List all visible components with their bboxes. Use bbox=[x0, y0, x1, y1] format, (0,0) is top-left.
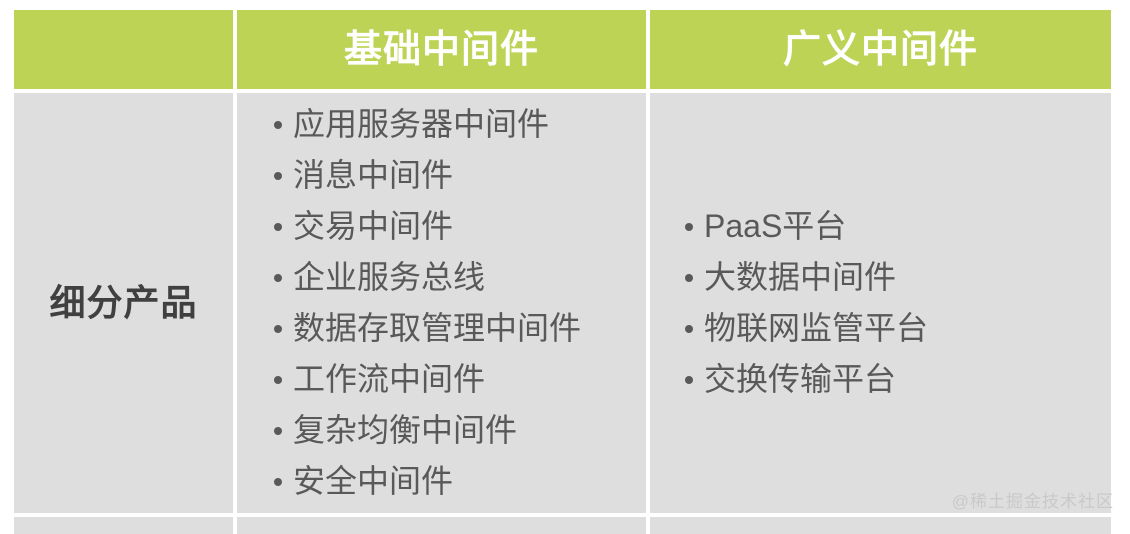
basic-middleware-list: 应用服务器中间件 消息中间件 交易中间件 企业服务总线 数据存取管理中间件 工作… bbox=[237, 99, 646, 507]
list-item: 交易中间件 bbox=[267, 201, 646, 252]
watermark: @稀土掘金技术社区 bbox=[952, 487, 1114, 512]
table-body-row: 细分产品 应用服务器中间件 消息中间件 交易中间件 企业服务总线 数据存取管理中… bbox=[14, 93, 1111, 513]
body-cell-broad-middleware: PaaS平台 大数据中间件 物联网监管平台 交换传输平台 bbox=[650, 93, 1111, 513]
list-item: 企业服务总线 bbox=[267, 252, 646, 303]
header-basic-middleware-title: 基础中间件 bbox=[237, 31, 646, 69]
list-item: 复杂均衡中间件 bbox=[267, 405, 646, 456]
next-row-cell-label bbox=[14, 517, 233, 534]
header-cell-basic-middleware: 基础中间件 bbox=[237, 10, 646, 89]
list-item: 物联网监管平台 bbox=[678, 303, 1111, 354]
row-label-text: 细分产品 bbox=[14, 285, 233, 321]
header-broad-middleware-title: 广义中间件 bbox=[650, 31, 1111, 69]
next-row-cell-broad bbox=[650, 517, 1111, 534]
broad-middleware-list: PaaS平台 大数据中间件 物联网监管平台 交换传输平台 bbox=[650, 201, 1111, 405]
list-item: 应用服务器中间件 bbox=[267, 99, 646, 150]
table-next-row-partial bbox=[14, 517, 1111, 534]
list-item: 安全中间件 bbox=[267, 456, 646, 507]
list-item: 数据存取管理中间件 bbox=[267, 303, 646, 354]
body-cell-basic-middleware: 应用服务器中间件 消息中间件 交易中间件 企业服务总线 数据存取管理中间件 工作… bbox=[237, 93, 646, 513]
list-item: 工作流中间件 bbox=[267, 354, 646, 405]
list-item: 交换传输平台 bbox=[678, 354, 1111, 405]
list-item: 消息中间件 bbox=[267, 150, 646, 201]
header-cell-label bbox=[14, 10, 233, 89]
list-item: 大数据中间件 bbox=[678, 252, 1111, 303]
header-cell-broad-middleware: 广义中间件 bbox=[650, 10, 1111, 89]
list-item: PaaS平台 bbox=[678, 201, 1111, 252]
body-cell-row-label: 细分产品 bbox=[14, 93, 233, 513]
next-row-cell-basic bbox=[237, 517, 646, 534]
table-header-row: 基础中间件 广义中间件 bbox=[14, 10, 1111, 89]
comparison-table: 基础中间件 广义中间件 细分产品 应用服务器中间件 消息中间件 交易中间件 企业… bbox=[14, 10, 1111, 517]
slide-canvas: 基础中间件 广义中间件 细分产品 应用服务器中间件 消息中间件 交易中间件 企业… bbox=[0, 0, 1130, 524]
